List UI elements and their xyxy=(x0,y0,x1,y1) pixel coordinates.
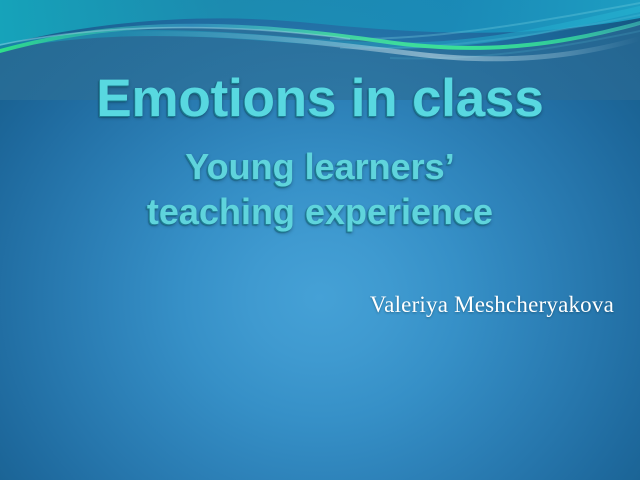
presentation-slide: Emotions in class Young learners’ teachi… xyxy=(0,0,640,480)
slide-subtitle: Young learners’ teaching experience xyxy=(0,144,640,234)
slide-author: Valeriya Meshcheryakova xyxy=(0,292,614,318)
slide-text-area: Emotions in class Young learners’ teachi… xyxy=(0,0,640,480)
slide-title: Emotions in class xyxy=(0,72,640,125)
slide-subtitle-line-1: Young learners’ xyxy=(0,144,640,189)
slide-subtitle-line-2: teaching experience xyxy=(0,189,640,234)
